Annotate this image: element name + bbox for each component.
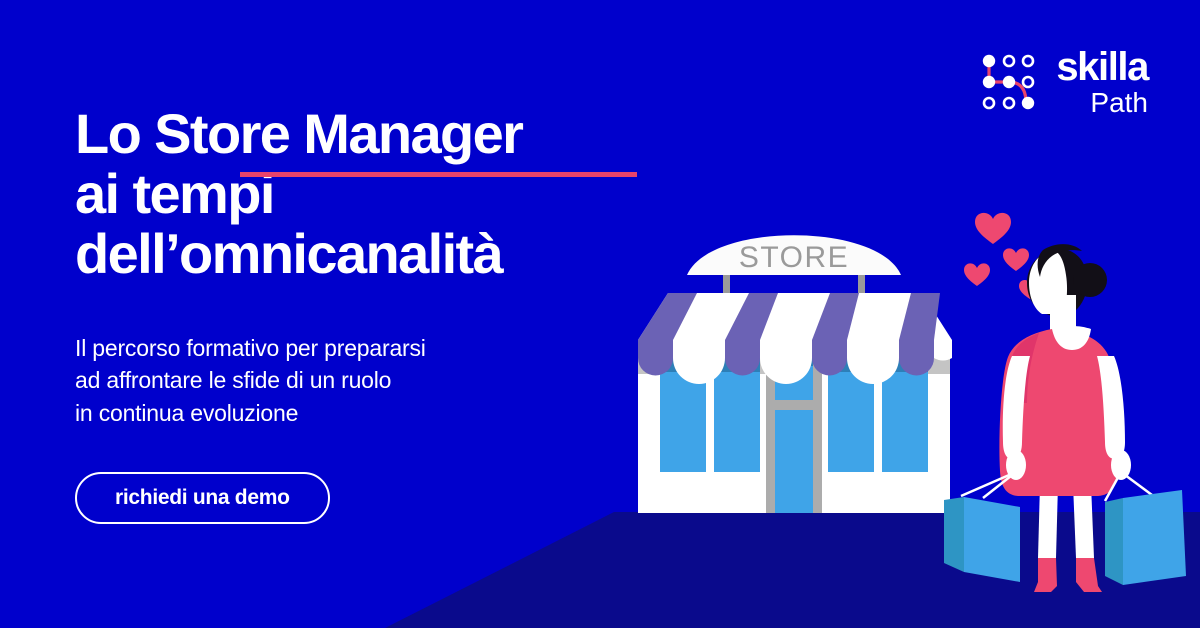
request-demo-button[interactable]: richiedi una demo	[75, 472, 330, 524]
headline-underline	[240, 172, 637, 177]
bag-front	[964, 497, 1020, 582]
heart-icon	[975, 213, 1011, 244]
bag-front	[1123, 490, 1186, 585]
skilla-dot-grid-icon	[982, 54, 1036, 110]
hand-right	[1111, 450, 1131, 480]
head	[1029, 250, 1067, 314]
store-illustration: STORE	[560, 180, 1200, 628]
hair-bun	[1073, 263, 1107, 297]
store-awning	[638, 293, 952, 384]
store-building: STORE	[638, 235, 952, 513]
logo-path-text: Path	[1090, 89, 1148, 117]
heart-icon	[964, 263, 990, 286]
bag-handle	[1121, 472, 1156, 498]
store-sign-label: STORE	[739, 241, 849, 274]
logo-wordmark: skilla Path	[1056, 47, 1148, 117]
brand-logo[interactable]: skilla Path	[982, 47, 1148, 117]
bag-side	[944, 497, 964, 572]
store-door-panel	[775, 410, 813, 513]
shopper-character	[944, 244, 1186, 592]
logo-skilla-text: skilla	[1056, 47, 1148, 87]
boot-right	[1076, 558, 1102, 592]
boot-left	[1034, 558, 1057, 592]
bag-side	[1105, 498, 1123, 585]
promo-banner: skilla Path Lo Store Manager ai tempi de…	[0, 0, 1200, 628]
heart-icon	[1003, 248, 1029, 271]
shopping-bag-right	[1105, 472, 1186, 585]
